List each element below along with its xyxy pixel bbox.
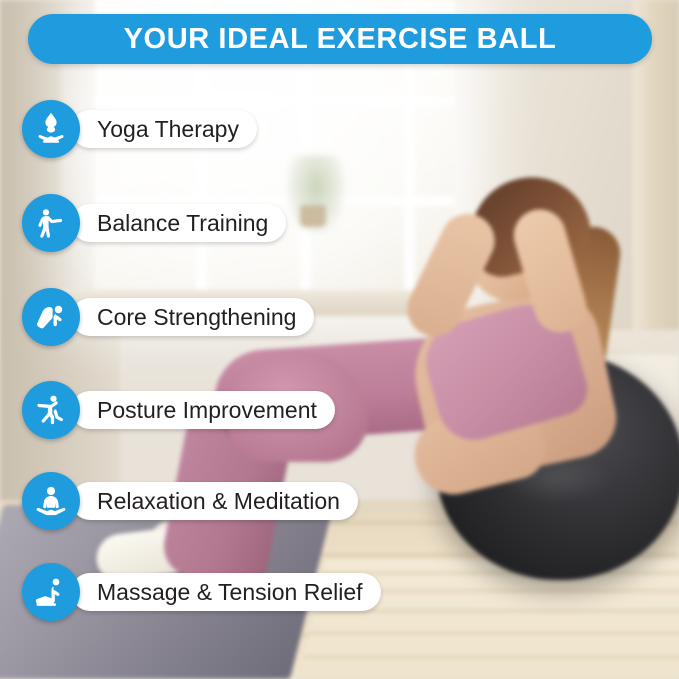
reclining-massage-icon [22,563,80,621]
feature-pill: Balance Training [71,204,286,242]
sit-up-crunch-icon [22,288,80,346]
standing-balance-pose-icon [22,194,80,252]
feature-row-posture-improvement[interactable]: Posture Improvement [22,381,335,439]
yoga-lotus-raised-arms-icon [22,100,80,158]
feature-pill: Yoga Therapy [71,110,257,148]
warrior-stretch-pose-icon [22,381,80,439]
feature-row-balance-training[interactable]: Balance Training [22,194,286,252]
feature-label: Core Strengthening [97,304,296,331]
feature-label: Balance Training [97,210,268,237]
feature-label: Yoga Therapy [97,116,239,143]
product-feature-graphic: YOUR IDEAL EXERCISE BALL Yoga Therapy [0,0,679,679]
feature-label: Posture Improvement [97,397,317,424]
feature-row-core-strengthening[interactable]: Core Strengthening [22,288,314,346]
feature-pill: Massage & Tension Relief [71,573,381,611]
feature-pill: Posture Improvement [71,391,335,429]
feature-list: Yoga Therapy Balance Training [0,0,679,679]
feature-row-yoga-therapy[interactable]: Yoga Therapy [22,100,257,158]
feature-pill: Relaxation & Meditation [71,482,358,520]
feature-label: Massage & Tension Relief [97,579,363,606]
feature-row-massage-tension-relief[interactable]: Massage & Tension Relief [22,563,381,621]
feature-pill: Core Strengthening [71,298,314,336]
meditation-lotus-icon [22,472,80,530]
feature-row-relaxation-meditation[interactable]: Relaxation & Meditation [22,472,358,530]
feature-label: Relaxation & Meditation [97,488,340,515]
